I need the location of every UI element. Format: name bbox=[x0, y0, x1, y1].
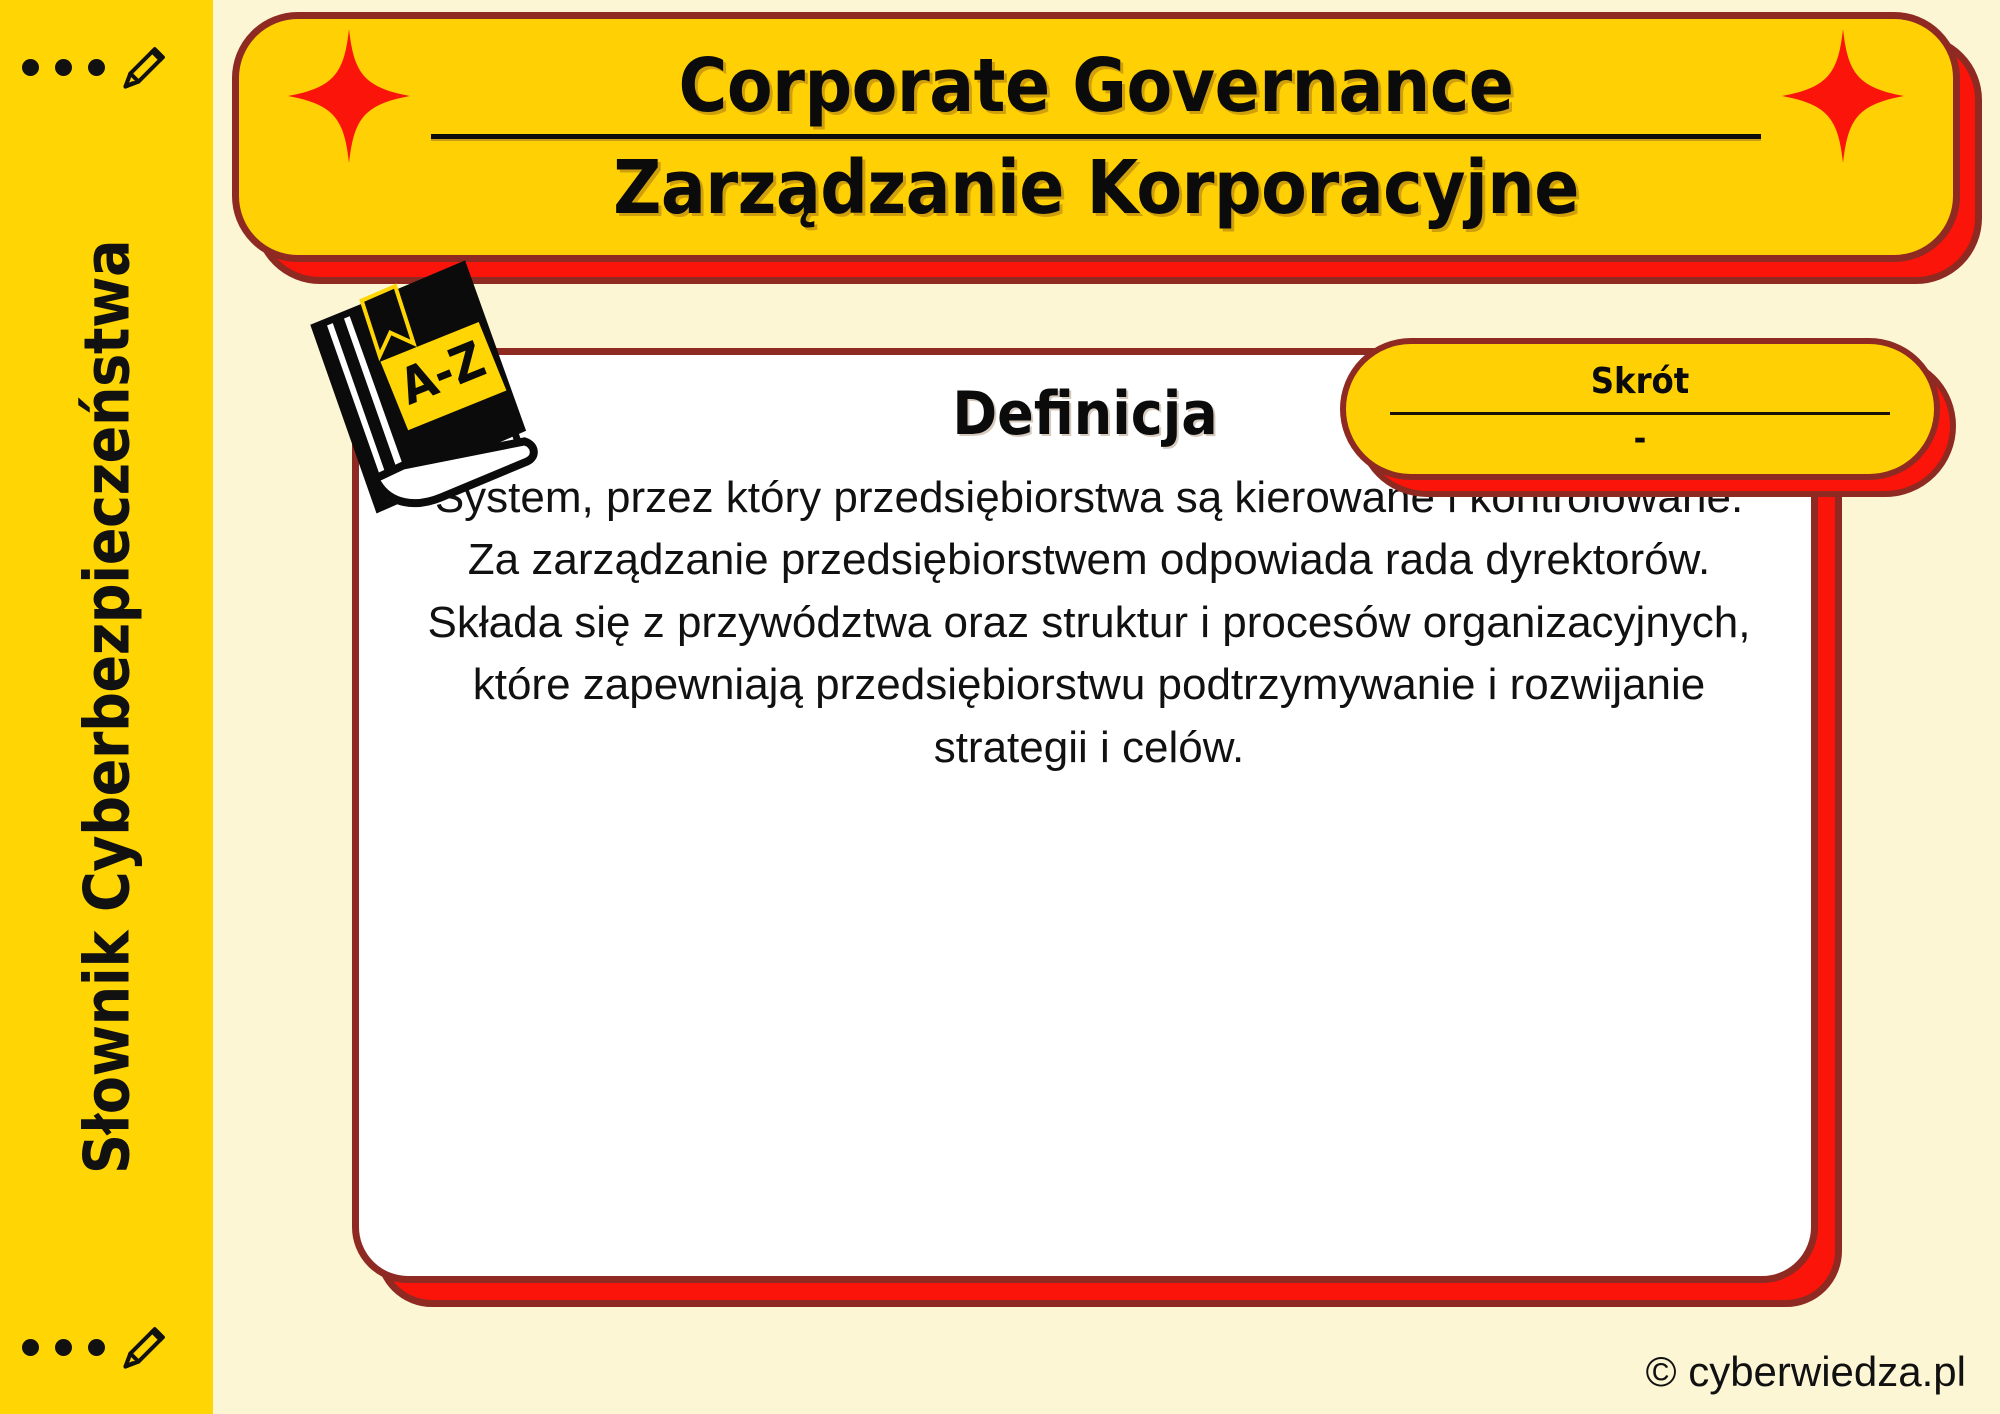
ellipsis-dots-icon bbox=[22, 1339, 105, 1356]
pencil-icon bbox=[119, 41, 171, 93]
definition-body: System, przez który przedsiębiorstwa są … bbox=[409, 467, 1769, 779]
sidebar: Słownik Cyberbezpieczeństwa bbox=[0, 0, 213, 1414]
ellipsis-dots-icon bbox=[22, 59, 105, 76]
sparkle-star-icon bbox=[1781, 29, 1905, 163]
header-banner: Corporate Governance Zarządzanie Korpora… bbox=[232, 12, 1960, 262]
abbreviation-badge: Skrót - bbox=[1340, 338, 1940, 480]
copyright-credit: © cyberwiedza.pl bbox=[1646, 1348, 1966, 1396]
term-english: Corporate Governance bbox=[396, 47, 1796, 125]
sparkle-star-icon bbox=[287, 29, 411, 163]
glossary-card: Słownik Cyberbezpieczeństwa Corporate Go… bbox=[0, 0, 2000, 1414]
header-text-group: Corporate Governance Zarządzanie Korpora… bbox=[396, 47, 1796, 228]
sidebar-top-decoration bbox=[22, 22, 192, 112]
sidebar-title: Słownik Cyberbezpieczeństwa bbox=[70, 240, 143, 1174]
term-polish: Zarządzanie Korporacyjne bbox=[396, 149, 1796, 227]
pencil-icon bbox=[119, 1321, 171, 1373]
dictionary-book-icon: A-Z bbox=[272, 247, 544, 528]
header-divider bbox=[431, 134, 1761, 139]
abbreviation-divider bbox=[1390, 412, 1890, 415]
abbreviation-label: Skrót bbox=[1591, 364, 1690, 400]
abbreviation-value: - bbox=[1634, 422, 1647, 456]
sidebar-bottom-decoration bbox=[22, 1302, 192, 1392]
